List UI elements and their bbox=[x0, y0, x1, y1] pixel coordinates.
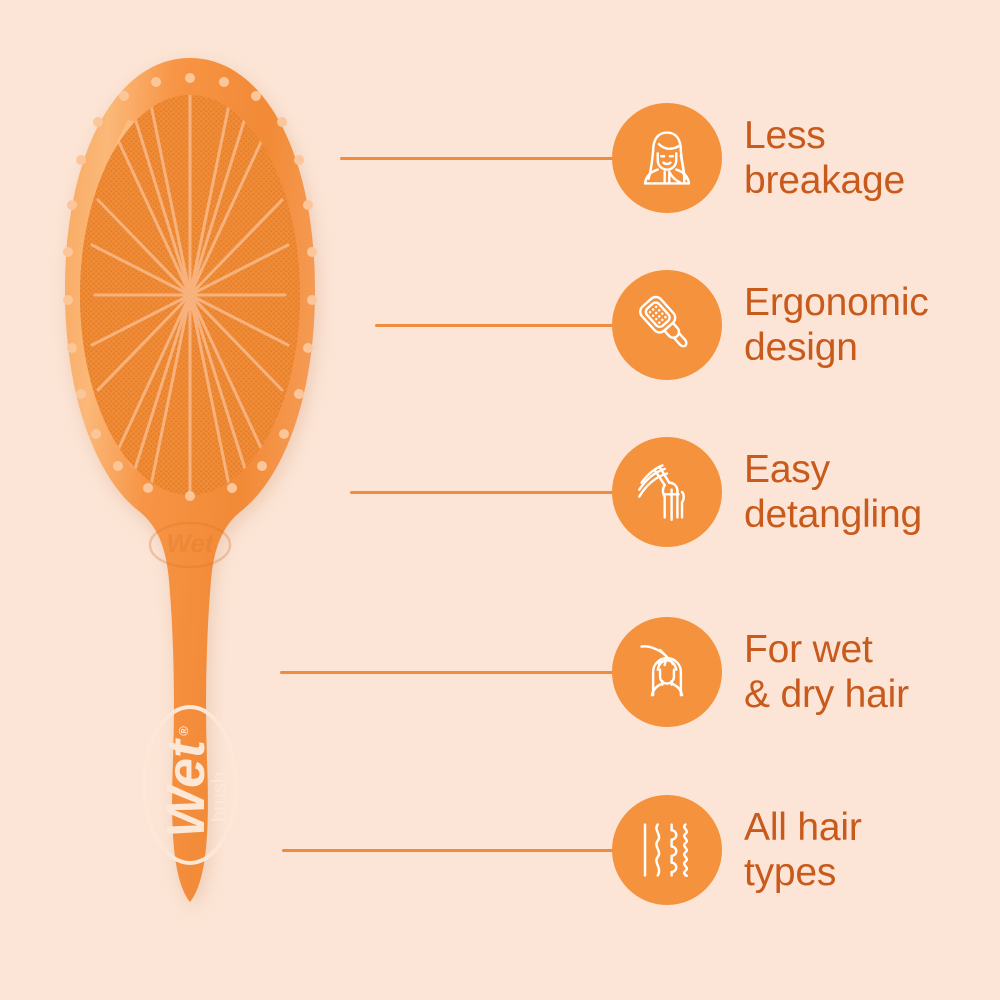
feature-row-less-breakage: Less breakage bbox=[270, 98, 990, 218]
paddle-brush-icon bbox=[612, 270, 722, 380]
feature-row-easy-detangling: Easy detangling bbox=[270, 432, 990, 552]
hair-textures-icon bbox=[612, 795, 722, 905]
feature-label: Less breakage bbox=[744, 113, 905, 203]
woman-hair-strand-icon bbox=[612, 103, 722, 213]
connector-line bbox=[350, 491, 615, 494]
feature-row-ergonomic-design: Ergonomic design bbox=[270, 265, 990, 385]
connector-line bbox=[280, 671, 615, 674]
shower-woman-icon bbox=[612, 617, 722, 727]
feature-label: All hair types bbox=[744, 805, 862, 895]
connector-line bbox=[375, 324, 615, 327]
feature-row-all-hair-types: All hair types bbox=[270, 790, 990, 910]
svg-text:Wet: Wet bbox=[166, 528, 215, 558]
feature-label: Easy detangling bbox=[744, 447, 922, 537]
svg-text:Wet: Wet bbox=[156, 738, 216, 838]
hand-holding-hair-icon bbox=[612, 437, 722, 547]
feature-row-for-wet-and-dry-hair: For wet & dry hair bbox=[270, 612, 990, 732]
svg-text:brush: brush bbox=[209, 772, 231, 822]
svg-text:®: ® bbox=[176, 726, 191, 736]
product-feature-infographic: Wet Wet ® brush bbox=[0, 0, 1000, 1000]
feature-label: Ergonomic design bbox=[744, 280, 929, 370]
connector-line bbox=[282, 849, 615, 852]
feature-label: For wet & dry hair bbox=[744, 627, 909, 717]
connector-line bbox=[340, 157, 615, 160]
